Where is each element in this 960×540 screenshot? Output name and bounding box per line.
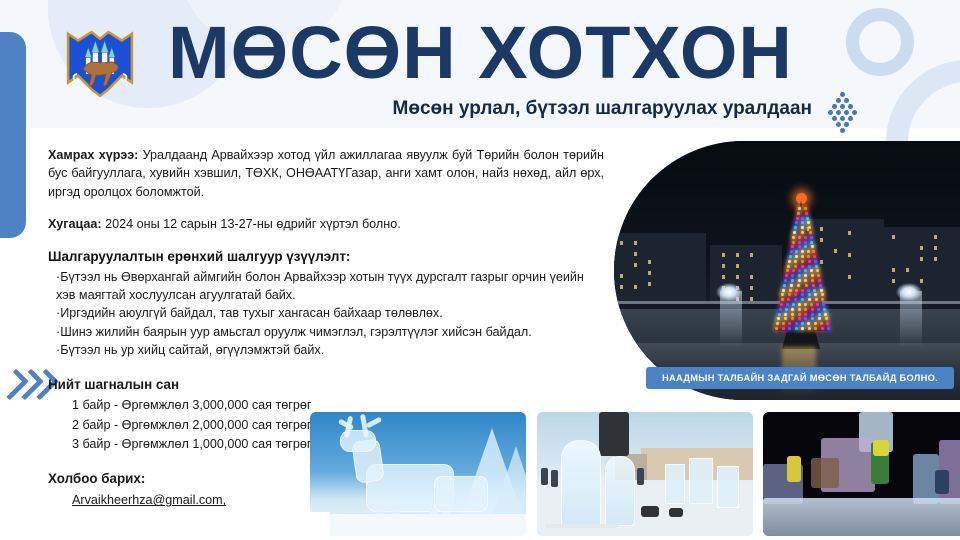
hero-window	[834, 249, 837, 253]
criteria-item: ·Шинэ жилийн баярын уур амьсгал оруулж ч…	[56, 324, 604, 342]
tree-light	[789, 255, 792, 258]
tree-light	[808, 265, 811, 268]
tree-light	[827, 327, 830, 330]
thumbnail-night-ice-sculptures	[763, 412, 960, 536]
tree-light	[804, 207, 807, 210]
tree-light	[805, 284, 808, 287]
tree-light	[818, 279, 821, 282]
period-paragraph: Хугацаа: 2024 оны 12 сарын 13-27-ны өдри…	[48, 215, 604, 233]
tree-light	[808, 327, 811, 330]
tree-light	[791, 279, 794, 282]
criteria-list: ·Бүтээл нь Өвөрхангай аймгийн болон Арва…	[48, 269, 604, 360]
hero-window	[750, 275, 753, 279]
tree-light	[811, 308, 814, 311]
thumb3-person-jacket	[873, 440, 889, 456]
thumb2-equipment	[641, 506, 659, 517]
hero-window	[848, 231, 851, 235]
hero-caption-bar: НААДМЫН ТАЛБАЙН ЗАДГАЙ МӨСӨН ТАЛБАЙД БОЛ…	[646, 367, 954, 389]
tree-light	[787, 265, 790, 268]
tree-light	[818, 313, 821, 316]
hero-window	[722, 264, 725, 268]
tree-light	[798, 241, 801, 244]
tree-light	[798, 308, 801, 311]
tree-light	[778, 313, 781, 316]
thumb2-ice-figure	[561, 440, 601, 528]
tree-light	[808, 260, 811, 263]
hero-window	[620, 241, 623, 245]
hero-window	[906, 268, 909, 272]
tree-light	[798, 313, 801, 316]
poster-canvas: МӨСӨН ХОТХОН Мөсөн урлал, бүтээл шалгару…	[0, 0, 960, 540]
hero-floodlight	[716, 283, 742, 301]
hero-building	[614, 233, 706, 303]
thumb2-ice-block	[689, 458, 713, 504]
criteria-item: ·Бүтээл нь Өвөрхангай аймгийн болон Арва…	[56, 269, 604, 304]
tree-light	[789, 289, 792, 292]
tree-light	[801, 260, 804, 263]
tree-light	[785, 308, 788, 311]
thumb3-sculpture-detail	[811, 458, 839, 488]
page-subtitle: Мөсөн урлал, бүтээл шалгаруулах уралдаан	[168, 98, 812, 120]
hero-window	[634, 241, 637, 245]
criteria-item: ·Бүтээл нь ур хийц сайтай, өгүүлэмжтэй б…	[56, 342, 604, 360]
tree-light	[795, 255, 798, 258]
hero-window	[634, 252, 637, 256]
thumb2-foreground-shadow	[599, 412, 629, 456]
tree-light	[798, 207, 801, 210]
tree-light	[775, 327, 778, 330]
hero-window	[736, 264, 739, 268]
thumb2-ice-figure	[605, 456, 635, 526]
hero-window	[736, 253, 739, 257]
tree-light	[788, 260, 791, 263]
hero-window	[934, 235, 937, 239]
thumb2-person	[551, 470, 558, 487]
tree-light	[790, 250, 793, 253]
poster-header: МӨСӨН ХОТХОН Мөсөн урлал, бүтээл шалгару…	[0, 0, 960, 132]
tree-light	[804, 241, 807, 244]
thumb1-second-deer	[434, 476, 488, 512]
criteria-heading: Шалгаруулалтын ерөнхий шалгуур үзүүлэлт:	[48, 248, 604, 266]
hero-window	[934, 246, 937, 250]
tree-light	[814, 322, 817, 325]
tree-light	[804, 236, 807, 239]
tree-light	[814, 327, 817, 330]
tree-light	[814, 260, 817, 263]
thumbnail-ice-figures-square	[537, 412, 753, 536]
hero-window	[736, 275, 739, 279]
hero-window	[920, 246, 923, 250]
tree-light	[819, 284, 822, 287]
tree-light	[795, 289, 798, 292]
tree-light	[807, 250, 810, 253]
period-text: 2024 оны 12 сарын 13-27-ны өдрийг хүртэл…	[102, 217, 401, 231]
hero-window	[892, 268, 895, 272]
hero-window	[634, 285, 637, 289]
prize-heading: Нийт шагналын сан	[48, 376, 604, 394]
tree-light	[792, 241, 795, 244]
tree-light	[815, 265, 818, 268]
tree-light	[780, 303, 783, 306]
hero-window	[920, 257, 923, 261]
tree-base	[782, 329, 820, 349]
tree-light	[812, 284, 815, 287]
tree-light	[821, 327, 824, 330]
hero-window	[848, 253, 851, 257]
tree-light	[815, 298, 818, 301]
hero-window	[892, 279, 895, 283]
tree-light	[820, 289, 823, 292]
tree-light	[791, 313, 794, 316]
tree-light	[786, 303, 789, 306]
tree-light	[807, 289, 810, 292]
thumb2-table	[545, 524, 619, 528]
thumb2-ice-block	[665, 464, 685, 504]
tree-light	[798, 303, 801, 306]
hero-window	[920, 279, 923, 283]
scope-paragraph: Хамрах хүрээ: Уралдаанд Арвайхээр хотод …	[48, 146, 604, 201]
hero-window	[648, 271, 651, 275]
tree-light	[796, 217, 799, 220]
tree-light	[820, 322, 823, 325]
tree-light	[788, 327, 791, 330]
thumb2-person	[637, 468, 644, 485]
tree-light	[801, 265, 804, 268]
hero-window	[722, 253, 725, 257]
tree-light	[795, 327, 798, 330]
hero-window	[750, 286, 753, 290]
hero-window	[848, 275, 851, 279]
tree-light	[794, 265, 797, 268]
tree-light	[801, 327, 804, 330]
thumb1-ice-tree	[492, 446, 526, 518]
hero-christmas-tree	[774, 199, 828, 349]
scope-label: Хамрах хүрээ:	[48, 148, 138, 162]
thumb2-person	[541, 468, 548, 485]
tree-light	[808, 226, 811, 229]
tree-light	[811, 274, 814, 277]
tree-light	[805, 212, 808, 215]
hero-window	[634, 263, 637, 267]
hero-photo-night-ice-rink	[614, 141, 960, 400]
criteria-item: ·Иргэдийн аюулгүй байдал, тав тухыг ханг…	[56, 305, 604, 323]
tree-light	[779, 308, 782, 311]
tree-light	[809, 231, 812, 234]
tree-light	[801, 217, 804, 220]
thumbnail-ice-deer-sculpture	[310, 412, 526, 536]
tree-light	[801, 231, 804, 234]
tree-light	[801, 289, 804, 292]
tree-light	[806, 217, 809, 220]
page-title: МӨСӨН ХОТХОН	[168, 14, 868, 96]
tree-light	[817, 308, 820, 311]
hero-window	[620, 274, 623, 278]
tree-light	[798, 279, 801, 282]
hero-window	[648, 282, 651, 286]
footer-spacer	[0, 512, 330, 540]
tree-light	[797, 212, 800, 215]
hero-floodlight	[896, 283, 922, 301]
tree-light	[798, 236, 801, 239]
hero-window	[750, 253, 753, 257]
tree-light	[804, 308, 807, 311]
tree-light	[810, 236, 813, 239]
tree-light	[781, 298, 784, 301]
tree-light	[795, 322, 798, 325]
tree-light	[801, 255, 804, 258]
hero-caption-text: НААДМЫН ТАЛБАЙН ЗАДГАЙ МӨСӨН ТАЛБАЙД БОЛ…	[662, 373, 938, 383]
arvaikheer-city-emblem-icon	[58, 22, 142, 106]
period-label: Хугацаа:	[48, 217, 102, 231]
thumb2-equipment	[669, 508, 683, 517]
thumb3-person	[935, 470, 949, 494]
decor-chevron-arrows	[4, 368, 50, 398]
hero-window	[722, 275, 725, 279]
thumb3-person-yellow	[787, 456, 801, 482]
tree-light	[811, 313, 814, 316]
hero-window	[892, 235, 895, 239]
thumb1-snow-ground	[310, 514, 526, 536]
tree-light	[824, 313, 827, 316]
hero-window	[934, 257, 937, 261]
thumb3-ice-base	[763, 498, 960, 536]
tree-light	[782, 327, 785, 330]
hero-window	[648, 260, 651, 264]
thumb2-ice-block	[717, 466, 739, 508]
tree-light	[792, 303, 795, 306]
hero-window	[620, 285, 623, 289]
